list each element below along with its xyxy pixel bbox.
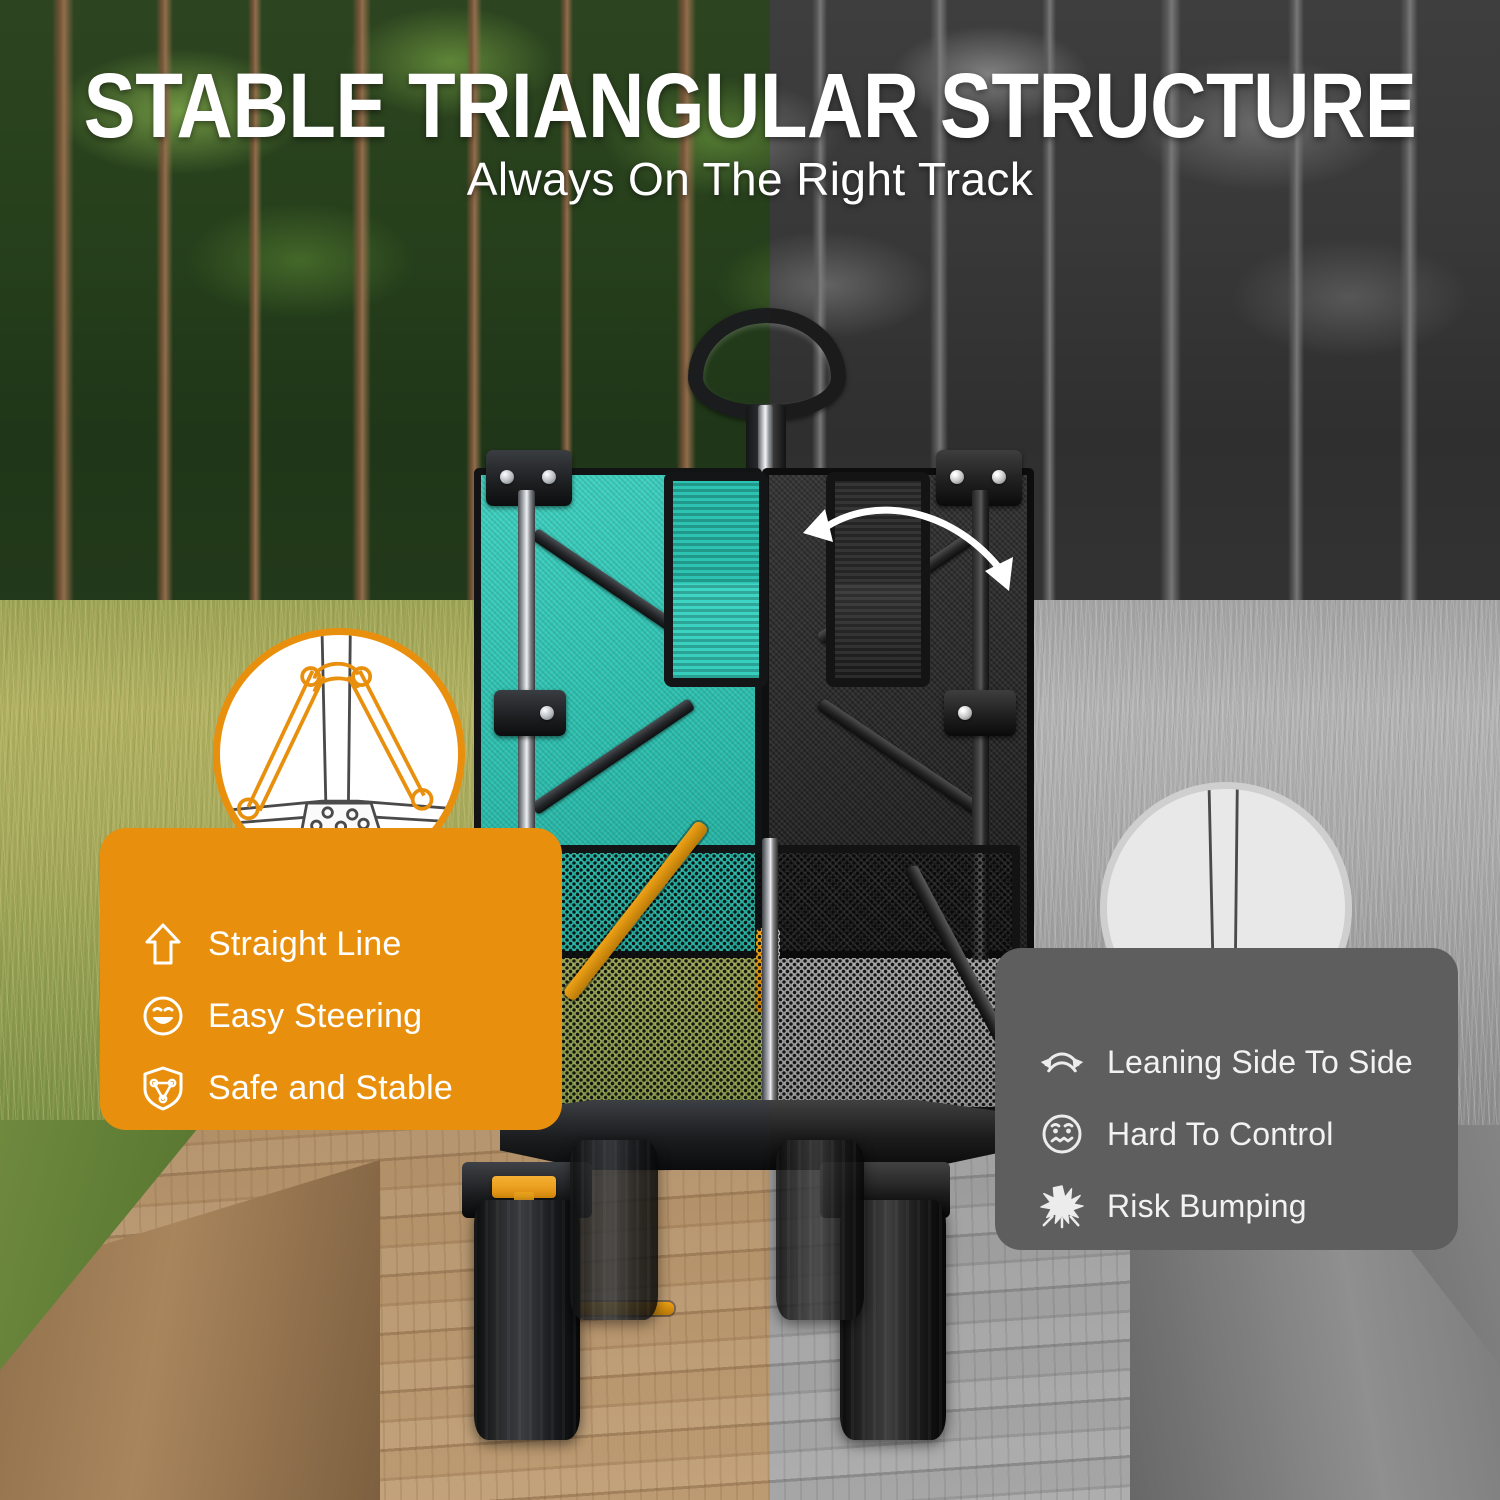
product-infographic: Straight Line Easy Steering [0, 0, 1500, 1500]
cons-feature-item: Risk Bumping [1039, 1183, 1458, 1229]
cons-feature-label: Hard To Control [1107, 1116, 1334, 1153]
impact-burst-icon [1039, 1183, 1085, 1229]
cons-feature-label: Leaning Side To Side [1107, 1044, 1413, 1081]
shield-triangle-icon [140, 1065, 186, 1111]
cons-feature-panel: Leaning Side To Side Hard To Control [995, 948, 1458, 1250]
pros-feature-item: Straight Line [140, 921, 562, 967]
wagon-side-pocket-teal [664, 472, 768, 687]
pros-feature-item: Easy Steering [140, 993, 562, 1039]
wagon-wheel-left [474, 1200, 580, 1440]
pros-feature-item: Safe and Stable [140, 1065, 562, 1111]
wagon-wheel-right-rear [776, 1140, 864, 1320]
bracket-rivet [500, 470, 514, 484]
bracket-rivet [950, 470, 964, 484]
bracket-rivet [992, 470, 1006, 484]
pros-feature-label: Safe and Stable [208, 1069, 453, 1108]
page-subtitle: Always On The Right Track [0, 152, 1500, 206]
cons-feature-label: Risk Bumping [1107, 1188, 1307, 1225]
up-arrow-icon [140, 921, 186, 967]
wagon-wheel-left-rear [570, 1140, 658, 1320]
pros-feature-label: Easy Steering [208, 997, 422, 1036]
wagon-mesh-basket [486, 845, 1020, 1115]
smiley-face-icon [140, 993, 186, 1039]
leaning-motion-arrow [795, 495, 1035, 620]
wagon-mid-bracket [494, 690, 566, 736]
queasy-face-icon [1039, 1111, 1085, 1157]
wagon-mid-bracket [944, 690, 1016, 736]
pros-feature-panel: Straight Line Easy Steering [100, 828, 562, 1130]
page-title: STABLE TRIANGULAR STRUCTURE [0, 52, 1500, 159]
bracket-rivet [542, 470, 556, 484]
bracket-rivet [540, 706, 554, 720]
cons-feature-list: Leaning Side To Side Hard To Control [995, 969, 1458, 1229]
cons-feature-item: Hard To Control [1039, 1111, 1458, 1157]
double-arrow-lean-icon [1039, 1039, 1085, 1085]
bracket-rivet [958, 706, 972, 720]
cons-feature-item: Leaning Side To Side [1039, 1039, 1458, 1085]
pros-feature-list: Straight Line Easy Steering [100, 847, 562, 1111]
pros-feature-label: Straight Line [208, 925, 402, 964]
wagon-center-divider-post [762, 838, 778, 1126]
